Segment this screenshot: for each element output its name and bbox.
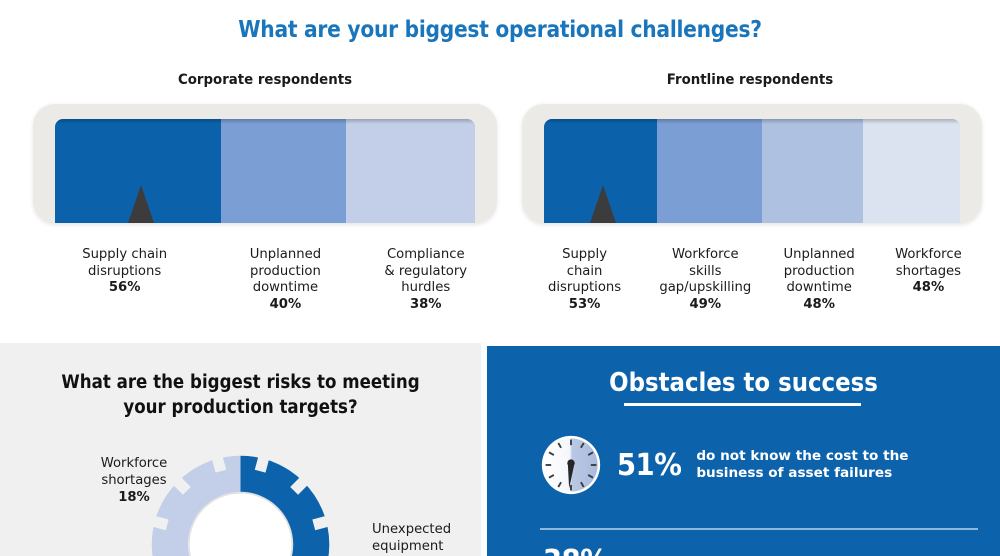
obstacle-stat-text: do not know the cost to the business of … [696,448,908,482]
bar-segment-label: Unplannedproductiondowntime48% [763,247,874,313]
gear-label-unexpected-equipment: Unexpected equipment [372,521,478,555]
bar-segment-percent: 40% [218,297,352,314]
bar-segment [221,119,346,223]
bar-segment-label: Supplychaindisruptions53% [522,247,647,313]
obstacles-title-underline [624,403,861,406]
gear-label-left-line2: shortages [101,473,166,488]
bar-segment-label: Workforceskillsgap/upskilling49% [647,247,763,313]
bar-segment-label-line: Unplanned [250,247,321,262]
bar-segment-label-line: production [784,264,855,279]
corporate-pointer-marker [128,185,154,223]
bar-segment-percent: 48% [765,297,872,314]
operational-challenges-section: What are your biggest operational challe… [0,0,1000,343]
gear-label-left-line1: Workforce [101,456,168,471]
bar-segment-label-line: Unplanned [783,247,854,262]
bar-segment-label-line: Supply [562,247,607,262]
bar-segment-label-line: shortages [896,264,961,279]
gear-label-right-line1: Unexpected [372,522,451,537]
corporate-bar-frame [33,103,497,223]
bar-segment-percent: 38% [357,297,495,314]
bar-segment-label-line: production [250,264,321,279]
bar-segment-label-line: disruptions [548,280,621,295]
obstacle-stat-text-line1: do not know the cost to the [696,448,908,464]
bar-segment [863,119,960,223]
bar-segment-label-line: hurdles [401,280,450,295]
corporate-bar-track [55,119,475,223]
bar-segment-label: Workforceshortages48% [875,247,982,313]
bar-segment-label-line: gap/upskilling [659,280,751,295]
bar-segment-label-line: chain [567,264,603,279]
bar-segment-label-line: & regulatory [384,264,467,279]
bar-segment-label: Supply chaindisruptions56% [33,247,216,313]
bar-segment-label-line: disruptions [88,264,161,279]
clock-icon [540,434,602,496]
bar-segment-label-line: Workforce [672,247,739,262]
frontline-bar-frame [522,103,982,223]
bar-segment-label-line: Workforce [895,247,962,262]
obstacles-divider [540,528,978,530]
obstacle-stat-number: 51% [617,448,682,483]
obstacle-stat-text-line2: business of asset failures [696,465,892,481]
bar-segment-label-line: downtime [786,280,851,295]
obstacles-title: Obstacles to success [518,368,969,398]
bar-segment-percent: 56% [35,280,214,297]
bar-segment-label: Compliance& regulatoryhurdles38% [355,247,497,313]
infographic-page: What are your biggest operational challe… [0,0,1000,556]
frontline-pointer-marker [590,185,616,223]
corporate-bar-labels: Supply chaindisruptions56%Unplannedprodu… [33,247,497,313]
bar-segment-percent: 49% [649,297,761,314]
bar-segment-label-line: Supply chain [82,247,167,262]
bar-segment-percent: 48% [877,280,980,297]
bar-segment [346,119,475,223]
bar-segment-label-line: Compliance [387,247,465,262]
obstacle-stat-number-2: 38% [543,545,608,556]
bar-segment [762,119,863,223]
gear-label-workforce-shortages: Workforce shortages 18% [78,455,190,506]
bar-segment-percent: 53% [524,297,645,314]
bar-segment-label: Unplannedproductiondowntime40% [216,247,354,313]
obstacles-to-success-panel: Obstacles to success [487,346,1000,556]
production-risks-title-line1: What are the biggest risks to meeting [61,372,419,393]
obstacle-stat-row: 51% do not know the cost to the business… [540,434,980,496]
page-title: What are your biggest operational challe… [60,17,940,43]
production-risks-title-line2: your production targets? [123,397,357,418]
frontline-bar-labels: Supplychaindisruptions53%Workforceskills… [522,247,982,313]
gear-label-right-line2: equipment [372,539,443,554]
frontline-respondents-heading: Frontline respondents [529,72,971,88]
bar-segment [657,119,762,223]
gear-label-left-percent: 18% [78,489,190,506]
production-risks-title: What are the biggest risks to meeting yo… [42,370,439,420]
bar-segment-label-line: skills [689,264,721,279]
bar-segment-label-line: downtime [253,280,318,295]
corporate-respondents-heading: Corporate respondents [49,72,481,88]
